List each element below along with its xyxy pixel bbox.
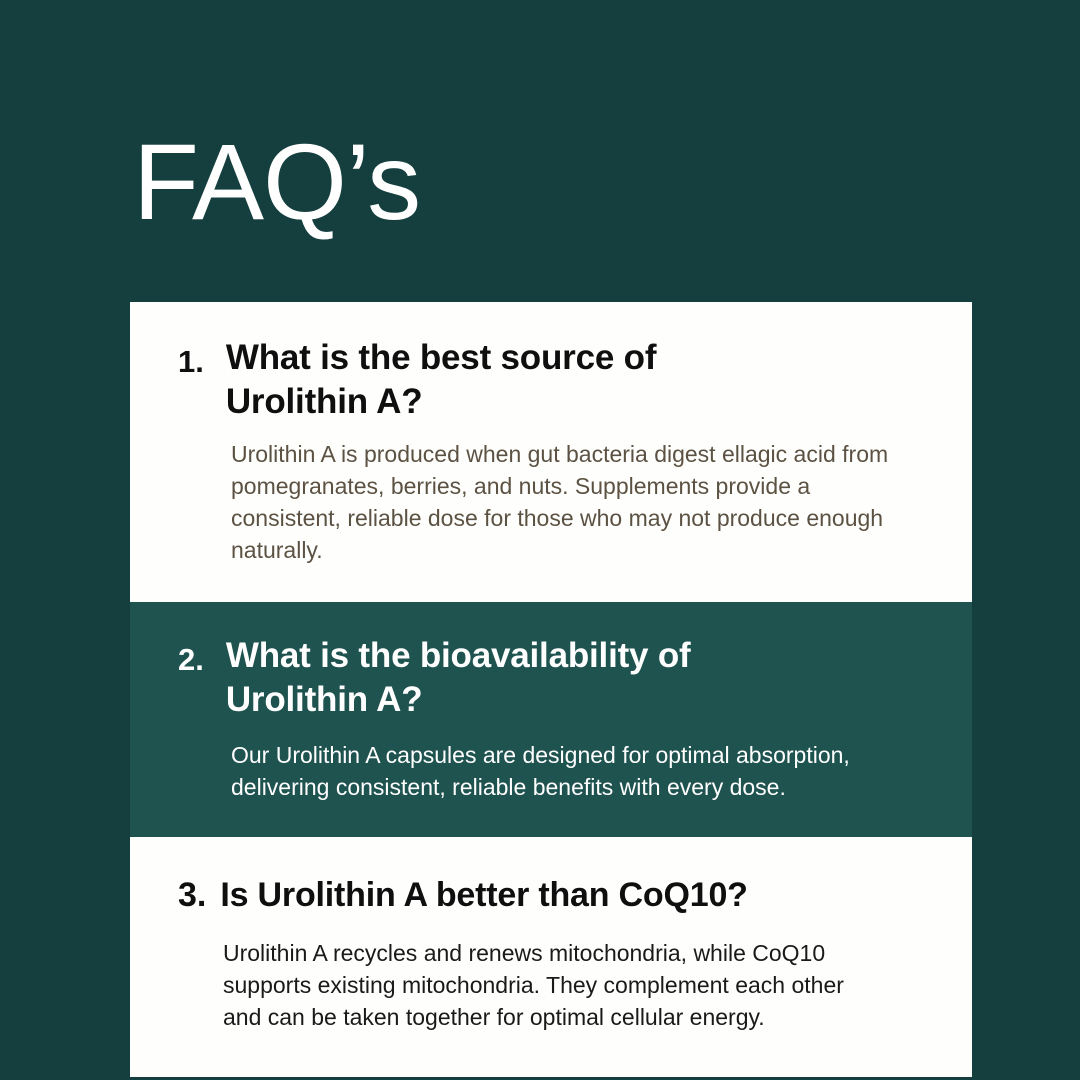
faq-question-row: 3. Is Urolithin A better than CoQ10?: [178, 873, 914, 917]
faq-poster: FAQ’s 1. What is the best source of Urol…: [0, 0, 1080, 1080]
faq-answer: Urolithin A is produced when gut bacteri…: [231, 438, 914, 566]
faq-question: What is the bioavailability of Urolithin…: [226, 634, 914, 722]
faq-list: 1. What is the best source of Urolithin …: [130, 302, 972, 1077]
faq-question: What is the best source of Urolithin A?: [226, 336, 914, 424]
faq-question-row: 1. What is the best source of Urolithin …: [178, 336, 914, 424]
faq-question: Is Urolithin A better than CoQ10?: [220, 873, 914, 917]
faq-answer: Urolithin A recycles and renews mitochon…: [223, 937, 883, 1033]
faq-item-1[interactable]: 1. What is the best source of Urolithin …: [130, 302, 972, 602]
faq-question-row: 2. What is the bioavailability of Urolit…: [178, 634, 914, 722]
page-title: FAQ’s: [133, 125, 420, 238]
faq-item-3[interactable]: 3. Is Urolithin A better than CoQ10? Uro…: [130, 837, 972, 1077]
faq-item-number: 2.: [178, 634, 204, 682]
faq-answer: Our Urolithin A capsules are designed fo…: [231, 739, 893, 803]
faq-item-number: 1.: [178, 336, 204, 384]
faq-item-2[interactable]: 2. What is the bioavailability of Urolit…: [130, 602, 972, 837]
faq-item-number: 3.: [178, 873, 206, 917]
